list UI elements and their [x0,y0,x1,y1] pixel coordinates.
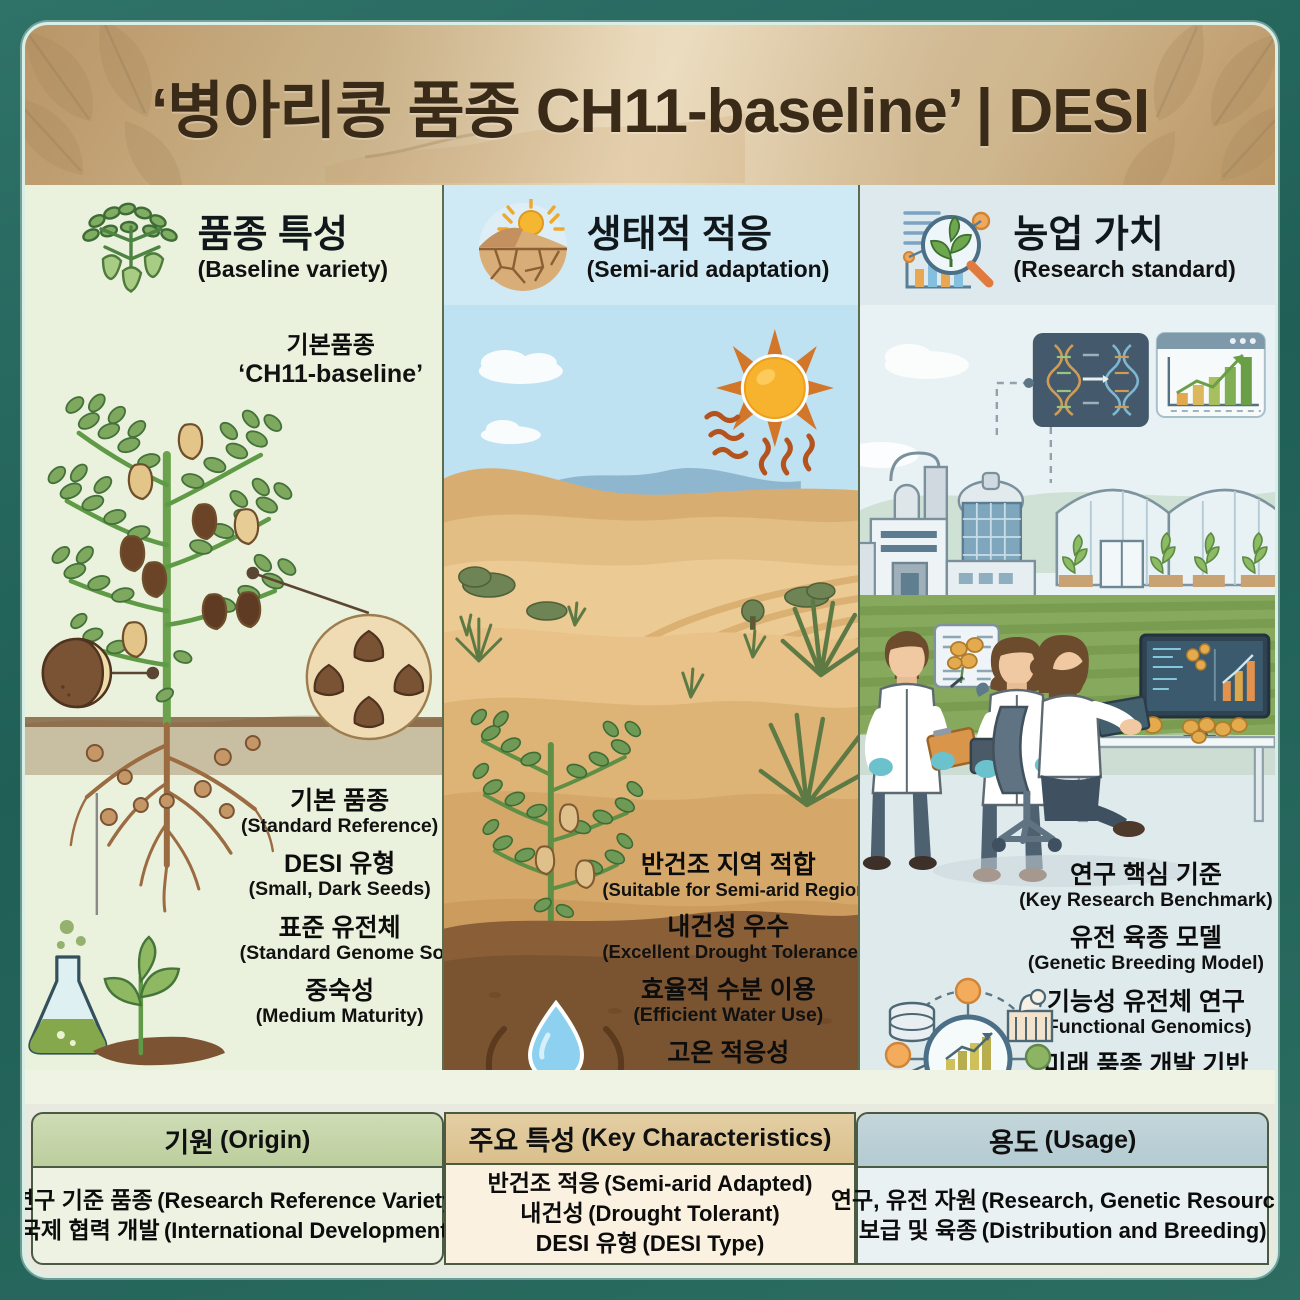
magnifier-chart-leaf-icon [899,201,999,298]
table-cell-ko: 보급 및 육종 [859,1217,978,1243]
facility-node [1008,990,1052,1041]
table-cell-en: (DESI Type) [643,1231,765,1256]
variety-label-item: 표준 유전체 (Standard Genome Source) [240,914,440,964]
research-label-en: (Key Research Benchmark) [1019,889,1273,911]
column-ecology-heading-en: (Semi-arid adaptation) [587,256,830,282]
variety-callout: 기본품종 ‘CH11-baseline’ [226,333,436,389]
table-cell-en: (International Development) [164,1218,455,1243]
variety-label-ko: 중숙성 [240,977,440,1005]
column-variety-header: 품종 특성 (Baseline variety) [25,185,442,313]
variety-label-ko: 기본 품종 [240,787,440,815]
ecology-label-ko: 반건조 지역 적합 [602,851,854,879]
growth-chart-window [1157,333,1265,417]
column-variety-heading-text: 품종 특성 (Baseline variety) [198,216,388,282]
column-variety-heading-ko: 품종 특성 [198,214,348,256]
column-research: 농업 가치 (Research standard) [858,185,1275,1070]
sun-icon [715,329,833,447]
table-cell-en: (Distribution and Breeding) [982,1218,1267,1243]
research-label-ko: 연구 핵심 기준 [1019,861,1273,889]
variety-callout-en: ‘CH11-baseline’ [226,360,436,389]
cracked-earth-sun-icon [473,199,573,299]
summary-body-usage: 연구, 유전 자원 (Research, Genetic Resource) 보… [856,1168,1269,1265]
column-research-heading-ko: 농업 가치 [1013,214,1163,256]
column-variety-heading-en: (Baseline variety) [198,256,388,282]
variety-label-en: (Standard Genome Source) [240,942,440,964]
column-research-heading-en: (Research standard) [1013,256,1235,282]
variety-label-en: (Medium Maturity) [240,1005,440,1027]
ecology-label-item: 반건조 지역 적합 (Suitable for Semi-arid Region… [602,851,854,900]
summary-table: 기원 (Origin) 연구 기준 품종 (Research Reference… [25,1104,1275,1275]
column-ecology-header: 생태적 적응 (Semi-arid adaptation) [444,185,859,313]
variety-label-ko: 표준 유전체 [240,914,440,942]
summary-header-usage-en: (Usage) [1045,1126,1137,1155]
table-cell-en: (Drought Tolerant) [588,1201,779,1226]
summary-body-origin: 연구 기준 품종 (Research Reference Variety) 국제… [31,1168,444,1265]
variety-label-item: 기본 품종 (Standard Reference) [240,787,440,837]
variety-label-ko: DESI 유형 [240,850,440,878]
ecology-label-item: 내건성 우수 (Excellent Drought Tolerance) [602,913,854,962]
summary-column-origin: 기원 (Origin) 연구 기준 품종 (Research Reference… [31,1112,444,1265]
table-row: 연구, 유전 자원 (Research, Genetic Resource) [831,1186,1278,1216]
summary-header-characteristics-ko: 주요 특성 [468,1119,575,1158]
summary-column-characteristics: 주요 특성 (Key Characteristics) 반건조 적응 (Semi… [444,1112,857,1265]
table-cell-ko: DESI 유형 [536,1230,638,1256]
table-cell-ko: 반건조 적응 [488,1170,600,1196]
summary-header-usage: 용도 (Usage) [856,1112,1269,1168]
column-research-heading-text: 농업 가치 (Research standard) [1013,216,1235,282]
ecology-label-en: (Suitable for Semi-arid Regions) [602,879,854,900]
poster-banner: ‘병아리콩 품종 CH11-baseline’ | DESI [25,25,1275,185]
poster-inner-frame: ‘병아리콩 품종 CH11-baseline’ | DESI [22,22,1278,1278]
summary-column-usage: 용도 (Usage) 연구, 유전 자원 (Research, Genetic … [856,1112,1269,1265]
summary-header-origin-en: (Origin) [220,1126,310,1155]
summary-header-characteristics-en: (Key Characteristics) [581,1124,831,1153]
table-cell-en: (Research, Genetic Resource) [981,1188,1278,1213]
database-node [890,1003,934,1041]
variety-callout-ko: 기본품종 [226,333,436,360]
infographic-poster: ‘병아리콩 품종 CH11-baseline’ | DESI [0,0,1300,1300]
table-row: 내건성 (Drought Tolerant) [520,1199,779,1229]
summary-header-origin-ko: 기원 [164,1121,214,1160]
variety-label-en: (Standard Reference) [240,815,440,837]
column-ecology: 생태적 적응 (Semi-arid adaptation) [442,185,859,1070]
table-cell-en: (Semi-arid Adapted) [604,1171,812,1196]
water-efficiency-icon [460,987,650,1070]
table-row: 국제 협력 개발 (International Development) [22,1216,455,1246]
seed-cross-section [43,639,111,707]
desi-seed-group [307,615,431,739]
table-cell-ko: 연구, 유전 자원 [831,1187,977,1213]
column-variety: 품종 특성 (Baseline variety) [25,185,442,1070]
table-row: DESI 유형 (DESI Type) [536,1229,765,1259]
table-row: 반건조 적응 (Semi-arid Adapted) [488,1169,813,1199]
variety-label-en: (Small, Dark Seeds) [240,878,440,900]
table-cell-ko: 연구 기준 품종 [22,1187,153,1213]
table-row: 보급 및 육종 (Distribution and Breeding) [859,1216,1267,1246]
column-ecology-heading-text: 생태적 적응 (Semi-arid adaptation) [587,216,830,282]
variety-label-list: 기본 품종 (Standard Reference) DESI 유형 (Smal… [240,787,440,1041]
column-research-header: 농업 가치 (Research standard) [860,185,1275,313]
seed-report-card [935,625,999,687]
table-cell-ko: 국제 협력 개발 [22,1217,160,1243]
summary-header-usage-ko: 용도 [989,1121,1039,1160]
variety-label-item: 중숙성 (Medium Maturity) [240,977,440,1027]
three-column-body: 품종 특성 (Baseline variety) [25,185,1275,1070]
summary-header-characteristics: 주요 특성 (Key Characteristics) [444,1112,857,1165]
research-label-ko: 유전 육종 모델 [1019,924,1273,952]
table-cell-en: (Research Reference Variety) [157,1188,462,1213]
summary-header-origin: 기원 (Origin) [31,1112,444,1168]
dna-analysis-panel [1033,333,1149,427]
ecology-label-ko: 내건성 우수 [602,913,854,941]
column-ecology-heading-ko: 생태적 적응 [587,214,772,256]
variety-label-item: DESI 유형 (Small, Dark Seeds) [240,850,440,900]
chickpea-plant-icon [79,201,184,298]
summary-body-characteristics: 반건조 적응 (Semi-arid Adapted) 내건성 (Drought … [444,1165,857,1265]
research-network-icon [868,967,1074,1070]
page-title: ‘병아리콩 품종 CH11-baseline’ | DESI [151,60,1149,150]
research-label-item: 연구 핵심 기준 (Key Research Benchmark) [1019,861,1273,911]
ecology-label-en: (Excellent Drought Tolerance) [602,941,854,962]
table-row: 연구 기준 품종 (Research Reference Variety) [22,1186,462,1216]
table-cell-ko: 내건성 [520,1200,583,1226]
